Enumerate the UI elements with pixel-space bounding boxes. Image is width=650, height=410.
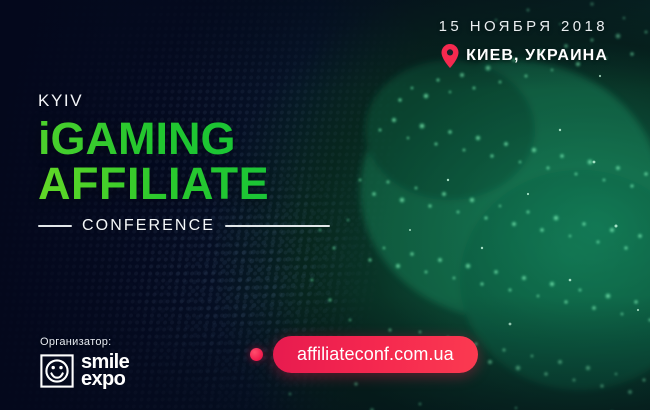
logo-word-expo: expo: [81, 371, 129, 388]
headline-block: KYIV iGAMING AFFILIATE CONFERENCE: [38, 92, 330, 234]
headline-line-igaming: iGAMING: [38, 118, 330, 161]
website-url-label: affiliateconf.com.ua: [297, 344, 454, 365]
smile-expo-wordmark: smile expo: [81, 354, 129, 388]
event-date-location-block: 15 НОЯБРЯ 2018 КИЕВ, УКРАИНА: [439, 18, 608, 68]
event-date: 15 НОЯБРЯ 2018: [439, 18, 608, 35]
organizer-label: Организатор:: [40, 337, 129, 348]
event-location: КИЕВ, УКРАИНА: [466, 47, 608, 65]
smile-expo-logo[interactable]: smile expo: [40, 354, 129, 388]
event-location-row: КИЕВ, УКРАИНА: [439, 44, 608, 68]
website-url-button[interactable]: affiliateconf.com.ua: [273, 336, 478, 373]
subtitle-rule-left: [38, 225, 72, 227]
event-promo-banner: 15 НОЯБРЯ 2018 КИЕВ, УКРАИНА KYIV iGAMIN…: [0, 0, 650, 410]
headline-subtitle: CONFERENCE: [82, 218, 215, 234]
subtitle-rule-right: [225, 225, 330, 227]
organizer-block: Организатор: smile expo: [40, 337, 129, 388]
headline-subtitle-row: CONFERENCE: [38, 218, 330, 234]
headline-line-affiliate: AFFILIATE: [38, 163, 330, 206]
map-pin-icon: [441, 44, 459, 68]
smile-expo-logo-icon: [40, 354, 74, 388]
headline-city: KYIV: [38, 92, 330, 109]
bullet-dot-icon: [250, 348, 263, 361]
